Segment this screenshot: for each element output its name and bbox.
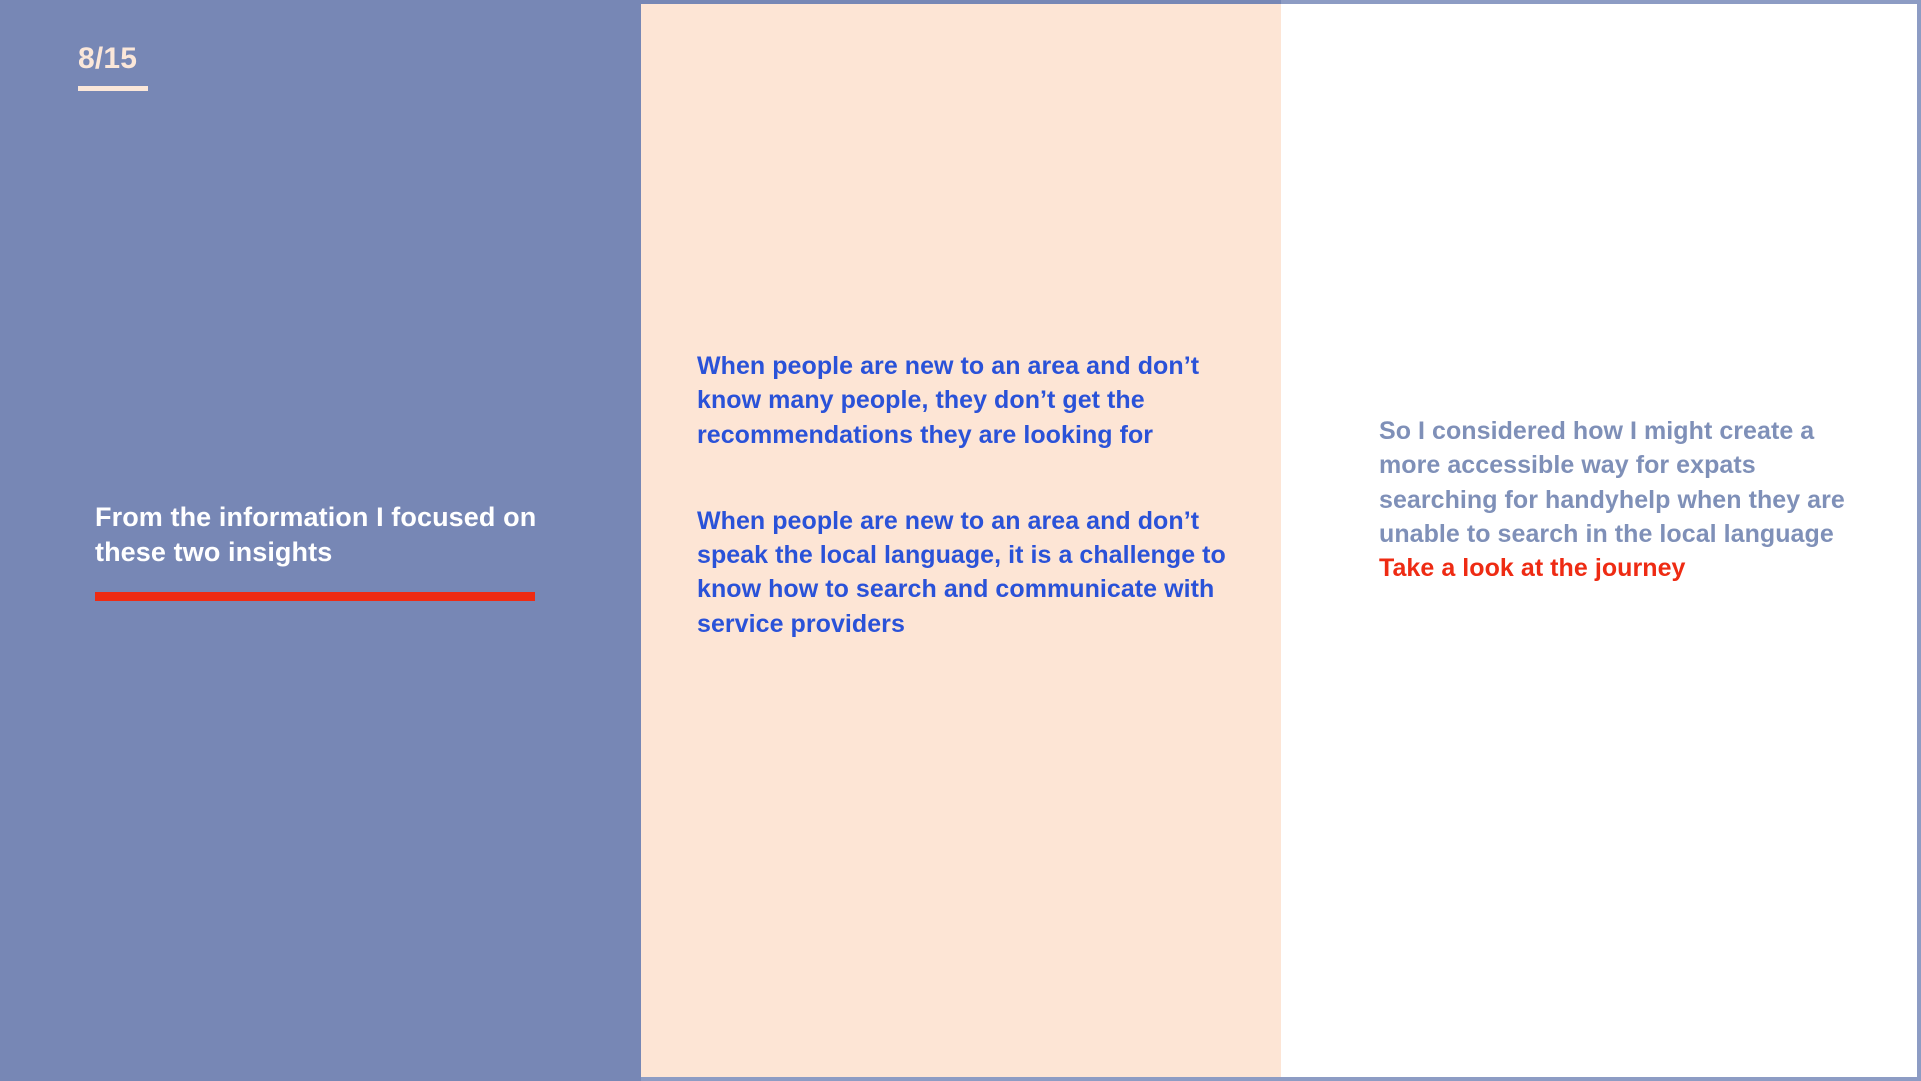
page-title: From the information I focused on these … xyxy=(95,500,565,570)
page-indicator: 8/15 xyxy=(78,44,148,91)
insights-list: When people are new to an area and don’t… xyxy=(697,349,1237,641)
insight-item-2: When people are new to an area and don’t… xyxy=(697,504,1237,641)
left-panel: 8/15 From the information I focused on t… xyxy=(0,0,641,1081)
center-panel: When people are new to an area and don’t… xyxy=(641,0,1281,1081)
right-panel-content: So I considered how I might create a mor… xyxy=(1379,414,1849,585)
right-panel: So I considered how I might create a mor… xyxy=(1281,0,1921,1081)
left-panel-content: From the information I focused on these … xyxy=(95,500,565,601)
slide-canvas: 8/15 From the information I focused on t… xyxy=(0,0,1921,1081)
design-intent-statement: So I considered how I might create a mor… xyxy=(1379,414,1849,551)
title-accent-rule xyxy=(95,592,535,601)
insight-item-1: When people are new to an area and don’t… xyxy=(697,349,1237,452)
page-indicator-label: 8/15 xyxy=(78,44,148,74)
journey-call-to-action[interactable]: Take a look at the journey xyxy=(1379,551,1849,585)
page-indicator-underline xyxy=(78,86,148,91)
